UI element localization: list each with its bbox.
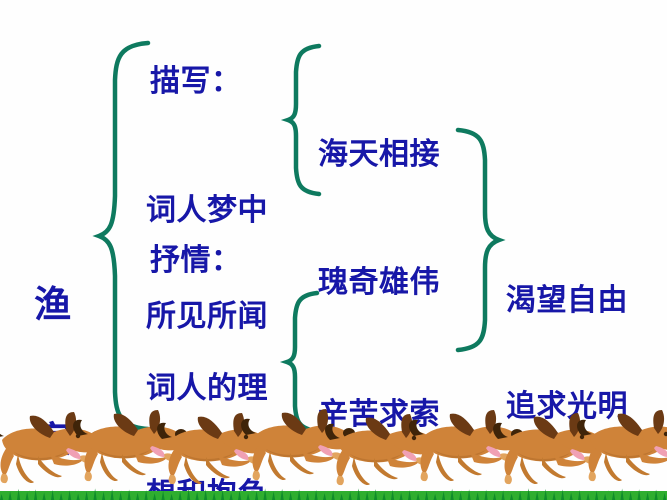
brace-root — [99, 43, 148, 429]
brace-conclusion — [458, 130, 499, 350]
branch-2-head: 抒情： — [150, 243, 242, 278]
conclusion-line-1: 渴望自由 — [506, 283, 628, 318]
branch-1-body-line-1: 词人梦中 — [146, 193, 268, 228]
slide-canvas: 渔 家 傲 描写： 词人梦中 所见所闻 抒情： 词人的理 想和抱负 海天相接 瑰… — [0, 0, 667, 500]
branch-1-head: 描写： — [150, 64, 242, 99]
root-char-1: 渔 — [30, 282, 76, 327]
grass-strip — [0, 484, 667, 500]
branch-1-child-line-1: 海天相接 — [318, 137, 440, 172]
branch-1-child-line-2: 瑰奇雄伟 — [318, 265, 440, 300]
brace-desc — [288, 46, 319, 194]
dog-row — [0, 409, 667, 485]
branch-2-body-line-1: 词人的理 — [146, 371, 268, 406]
